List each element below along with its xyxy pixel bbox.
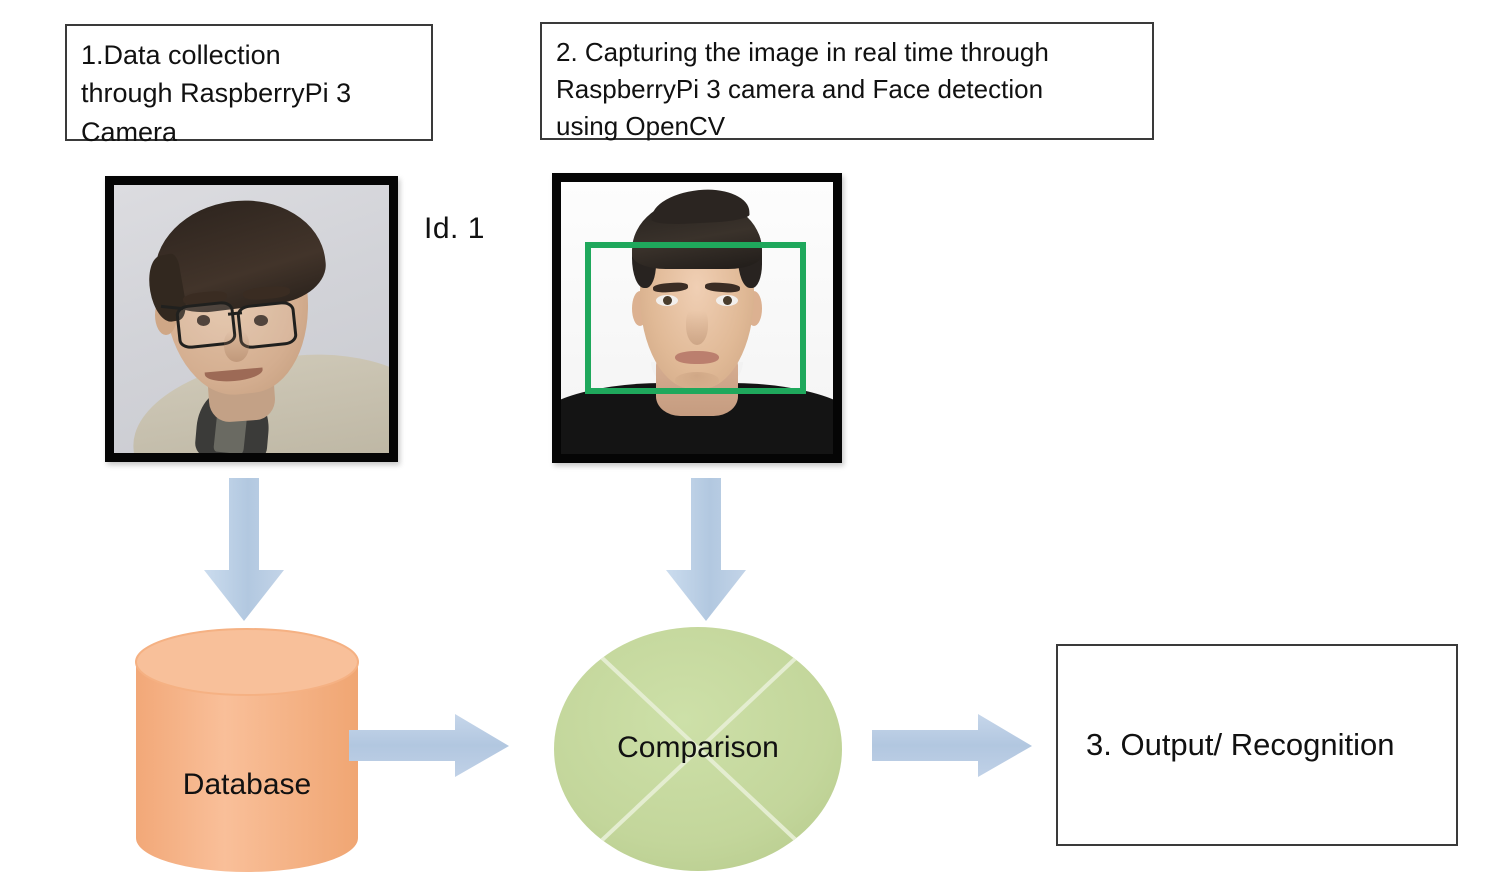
database-cylinder: Database bbox=[134, 628, 360, 872]
database-to-comparison-arrow bbox=[349, 714, 511, 778]
output-textbox: 3. Output/ Recognition bbox=[1056, 644, 1458, 846]
step2-textbox: 2. Capturing the image in real time thro… bbox=[540, 22, 1154, 140]
enrolled-id-label: Id. 1 bbox=[424, 212, 485, 246]
enrolled-photo-content bbox=[114, 185, 389, 453]
diagram-canvas: 1.Data collection through RaspberryPi 3 … bbox=[0, 0, 1486, 888]
comparison-circle: Comparison bbox=[553, 626, 843, 873]
comparison-to-output-arrow bbox=[872, 714, 1034, 778]
step1-textbox: 1.Data collection through RaspberryPi 3 … bbox=[65, 24, 433, 141]
enrolled-face-photo bbox=[105, 176, 398, 462]
live-capture-photo bbox=[552, 173, 842, 463]
database-down-arrow bbox=[196, 478, 292, 626]
face-detection-rectangle bbox=[585, 242, 805, 394]
live-capture-down-arrow bbox=[658, 478, 754, 626]
nose-shape bbox=[224, 330, 249, 362]
live-photo-content bbox=[561, 182, 833, 454]
